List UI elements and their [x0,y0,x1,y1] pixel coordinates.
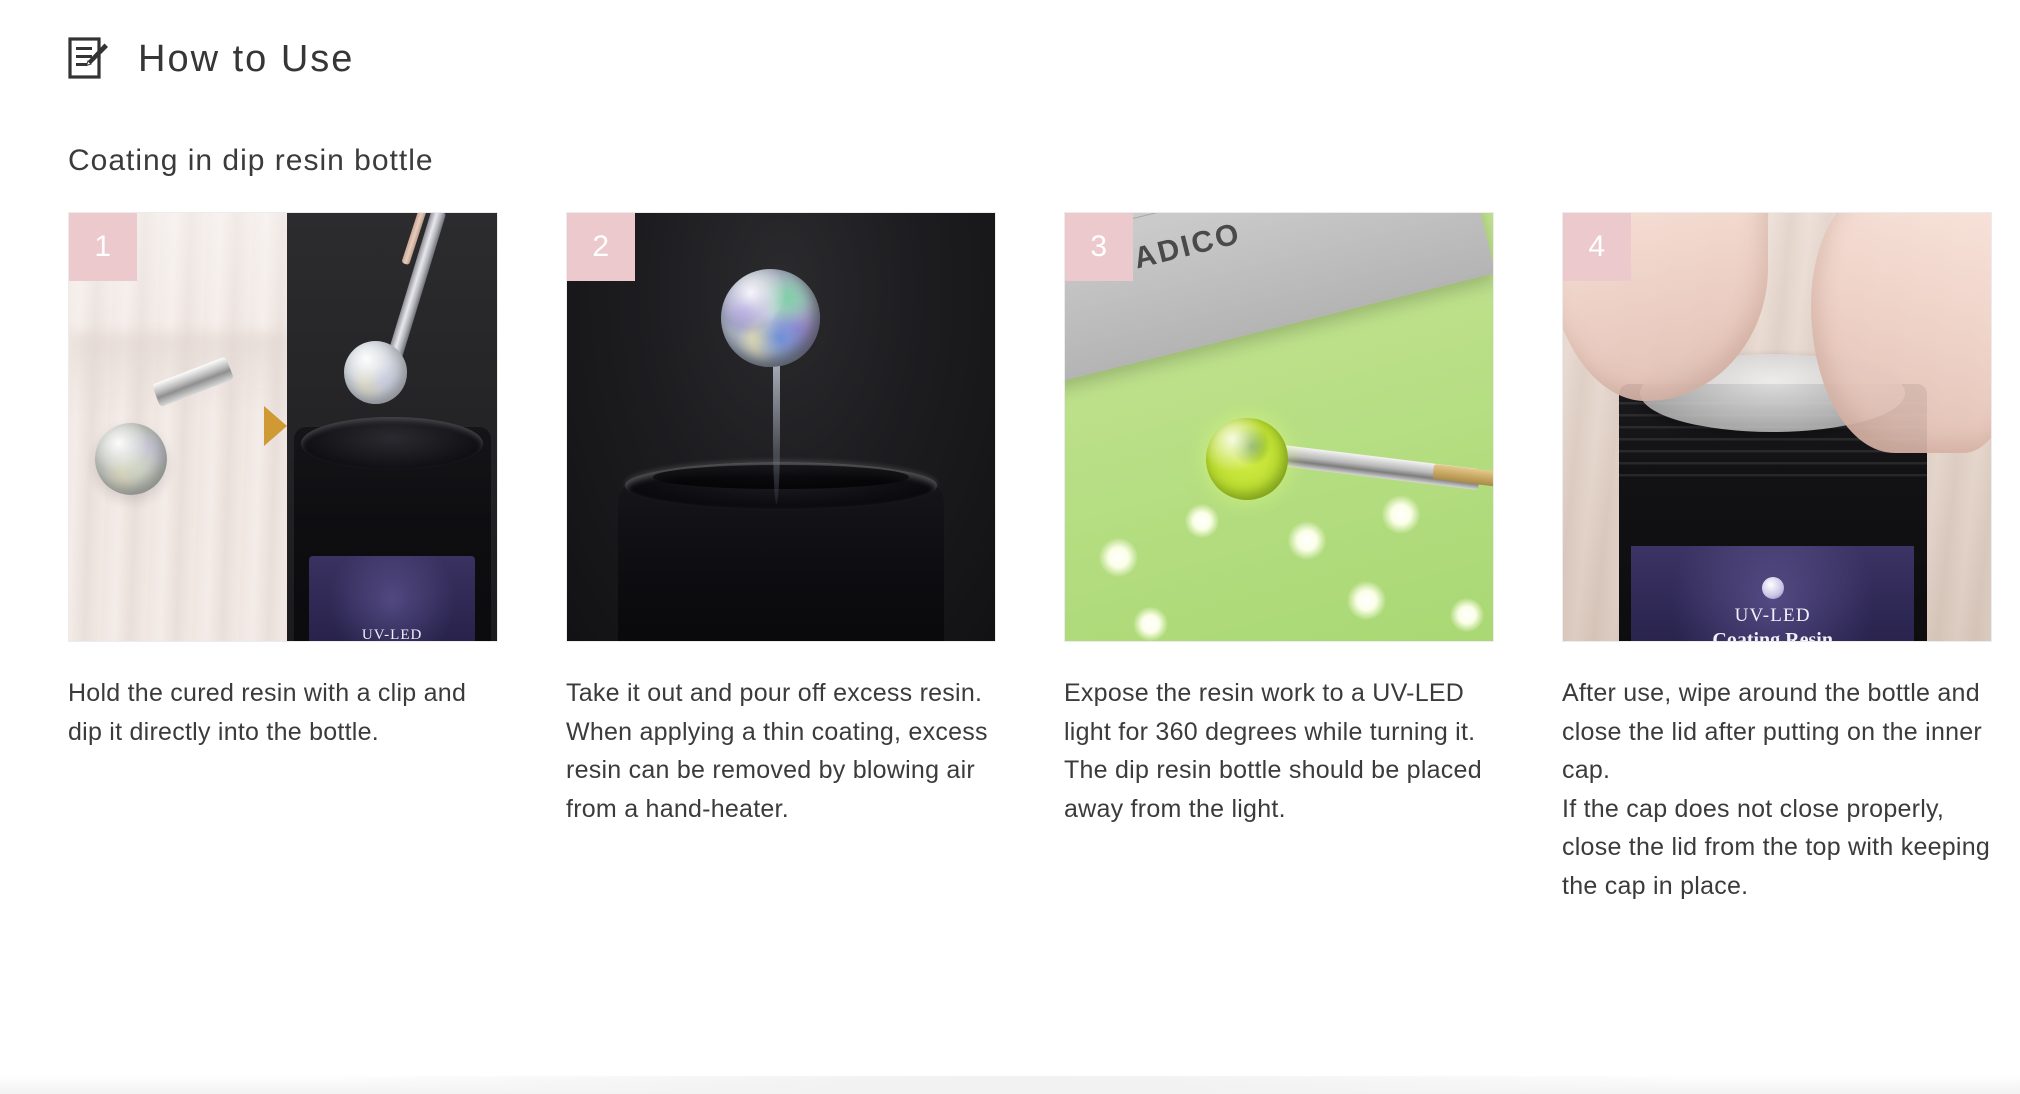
led-light-2 [1185,504,1219,538]
section-heading: Coating in dip resin bottle [68,146,2020,176]
bottle-label: UV-LED Coating Resin [309,556,475,641]
step-caption-4: After use, wipe around the bottle and cl… [1562,674,1992,905]
step-caption-3: Expose the resin work to a UV-LED light … [1064,674,1494,828]
bottom-divider [0,1062,2020,1094]
step-number-badge-3: 3 [1065,213,1133,281]
step-number-badge-1: 1 [69,213,137,281]
metal-clip-tool [152,357,234,407]
resin-jar [618,478,943,642]
led-light-4 [1382,495,1421,534]
bottle-dip-scene: UV-LED Coating Resin [287,213,497,641]
step-image-4: UV-LED Coating Resin 4 [1562,212,1992,642]
cured-resin-ball [95,423,167,495]
bottle-label-line1: UV-LED [362,627,422,641]
process-arrow-icon [264,406,287,446]
step-image-1: UV-LED Coating Resin 1 [68,212,498,642]
led-light-3 [1288,521,1327,560]
coated-resin-ball [721,269,819,367]
step-card-2: 2 Take it out and pour off excess resin.… [566,212,996,905]
led-light-5 [1133,607,1167,641]
steps-row: UV-LED Coating Resin 1 Hold the cured re… [68,212,2020,905]
step-card-1: UV-LED Coating Resin 1 Hold the cured re… [68,212,498,905]
resin-ball-curing [1206,418,1287,499]
step-card-4: UV-LED Coating Resin 4 After use, wipe a… [1562,212,1992,905]
page-header: How to Use [0,0,2020,90]
resin-surface [653,465,909,489]
bottle-label-line1: UV-LED [1735,604,1811,628]
document-pencil-icon [66,36,112,82]
led-light-7 [1450,598,1484,632]
step-image-3: PADICO 3 [1064,212,1494,642]
label-emblem-icon [1762,577,1784,599]
bottle-label: UV-LED Coating Resin [1631,546,1915,641]
bottle-rim [301,417,482,470]
jar-rim [625,462,937,509]
resin-ball-being-dipped [344,341,407,404]
step-caption-1: Hold the cured resin with a clip and dip… [68,674,498,751]
bottle-label-line2: Coating Resin [1712,628,1833,641]
led-light-1 [1099,538,1138,577]
resin-bottle: UV-LED Coating Resin [294,427,491,641]
step-caption-2: Take it out and pour off excess resin. W… [566,674,996,828]
led-light-6 [1347,581,1386,620]
page-title: How to Use [138,40,354,78]
step-card-3: PADICO 3 Expose the resin work to a UV-L… [1064,212,1494,905]
step-number-badge-2: 2 [567,213,635,281]
step-number-badge-4: 4 [1563,213,1631,281]
step-image-2: 2 [566,212,996,642]
